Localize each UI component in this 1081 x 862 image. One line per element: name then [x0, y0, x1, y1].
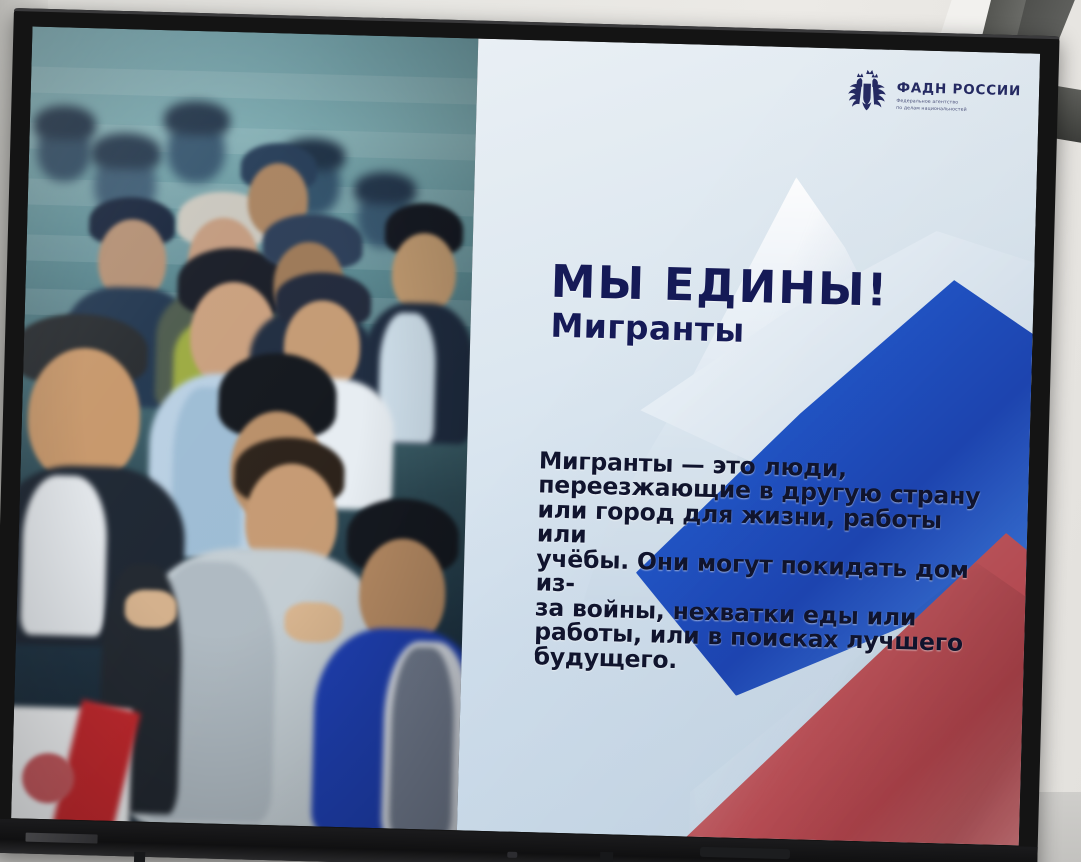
slide-body-text: Мигранты — это люди, переезжающие в друг… [533, 448, 991, 680]
logo-title: ФАДН РОССИИ [897, 82, 1022, 99]
slide-title: МЫ ЕДИНЫ! [550, 260, 889, 313]
logo-subtitle-line-2: по делам национальностей [896, 106, 982, 115]
television[interactable]: ФАДН РОССИИ Федеральное агентство по дел… [0, 8, 1060, 862]
fadn-logo: ФАДН РОССИИ Федеральное агентство по дел… [843, 66, 1022, 117]
tv-screen[interactable]: ФАДН РОССИИ Федеральное агентство по дел… [11, 27, 1040, 846]
tv-brand-logo [25, 833, 97, 844]
tv-ir-receiver [507, 852, 517, 858]
room-scene: ФАДН РОССИИ Федеральное агентство по дел… [0, 0, 1081, 862]
slide-subtitle: Мигранты [550, 309, 745, 347]
double-headed-eagle-icon [843, 66, 890, 113]
tv-mount-leg-left [134, 852, 145, 862]
slide-photo-crowd [11, 27, 478, 831]
tv-mount-leg-center [600, 852, 613, 862]
presentation-slide: ФАДН РОССИИ Федеральное агентство по дел… [457, 39, 1040, 846]
